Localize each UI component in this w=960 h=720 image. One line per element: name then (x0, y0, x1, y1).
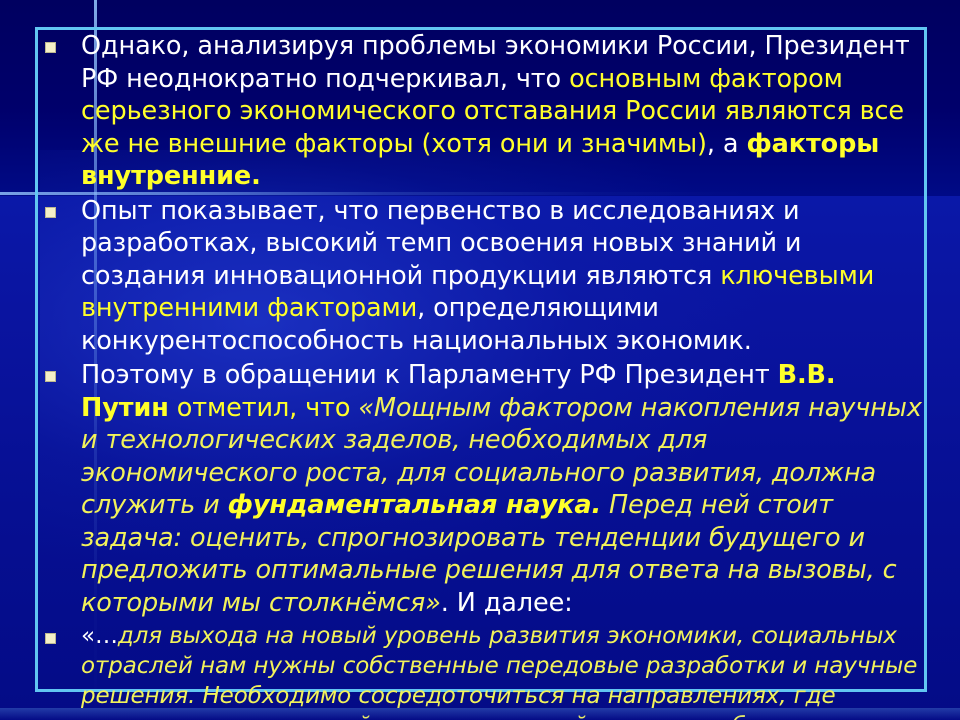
bullet-item: Поэтому в обращении к Парламенту РФ През… (45, 359, 925, 619)
bullet-item: Опыт показывает, что первенство в исслед… (45, 195, 925, 358)
square-bullet-glyph (45, 371, 56, 382)
text-run: Поэтому в обращении к Парламенту РФ През… (81, 360, 778, 390)
bottom-edge-highlight (0, 708, 960, 720)
text-run: , а (707, 129, 747, 159)
bullet-paragraph: Поэтому в обращении к Парламенту РФ През… (81, 359, 925, 619)
square-bullet-glyph (45, 633, 56, 644)
square-bullet-glyph (45, 42, 56, 53)
square-bullet-icon (45, 359, 81, 382)
bullet-paragraph: Опыт показывает, что первенство в исслед… (81, 195, 925, 358)
slide-canvas: Однако, анализируя проблемы экономики Ро… (0, 0, 960, 720)
bullet-item: «…для выхода на новый уровень развития э… (45, 621, 925, 720)
text-run: . И далее: (441, 588, 573, 618)
bullet-paragraph: «…для выхода на новый уровень развития э… (81, 621, 925, 720)
square-bullet-icon (45, 195, 81, 218)
text-run: «… (81, 623, 118, 649)
bullet-list: Однако, анализируя проблемы экономики Ро… (45, 30, 925, 720)
bullet-item: Однако, анализируя проблемы экономики Ро… (45, 30, 925, 193)
square-bullet-icon (45, 621, 81, 644)
square-bullet-glyph (45, 207, 56, 218)
text-run: для выхода на новый уровень развития эко… (81, 623, 917, 720)
bullet-paragraph: Однако, анализируя проблемы экономики Ро… (81, 30, 925, 193)
text-run: фундаментальная наука. (228, 490, 601, 520)
square-bullet-icon (45, 30, 81, 53)
text-run: отметил, что (169, 393, 359, 423)
text-run: Опыт показывает, что первенство в исслед… (81, 196, 801, 291)
